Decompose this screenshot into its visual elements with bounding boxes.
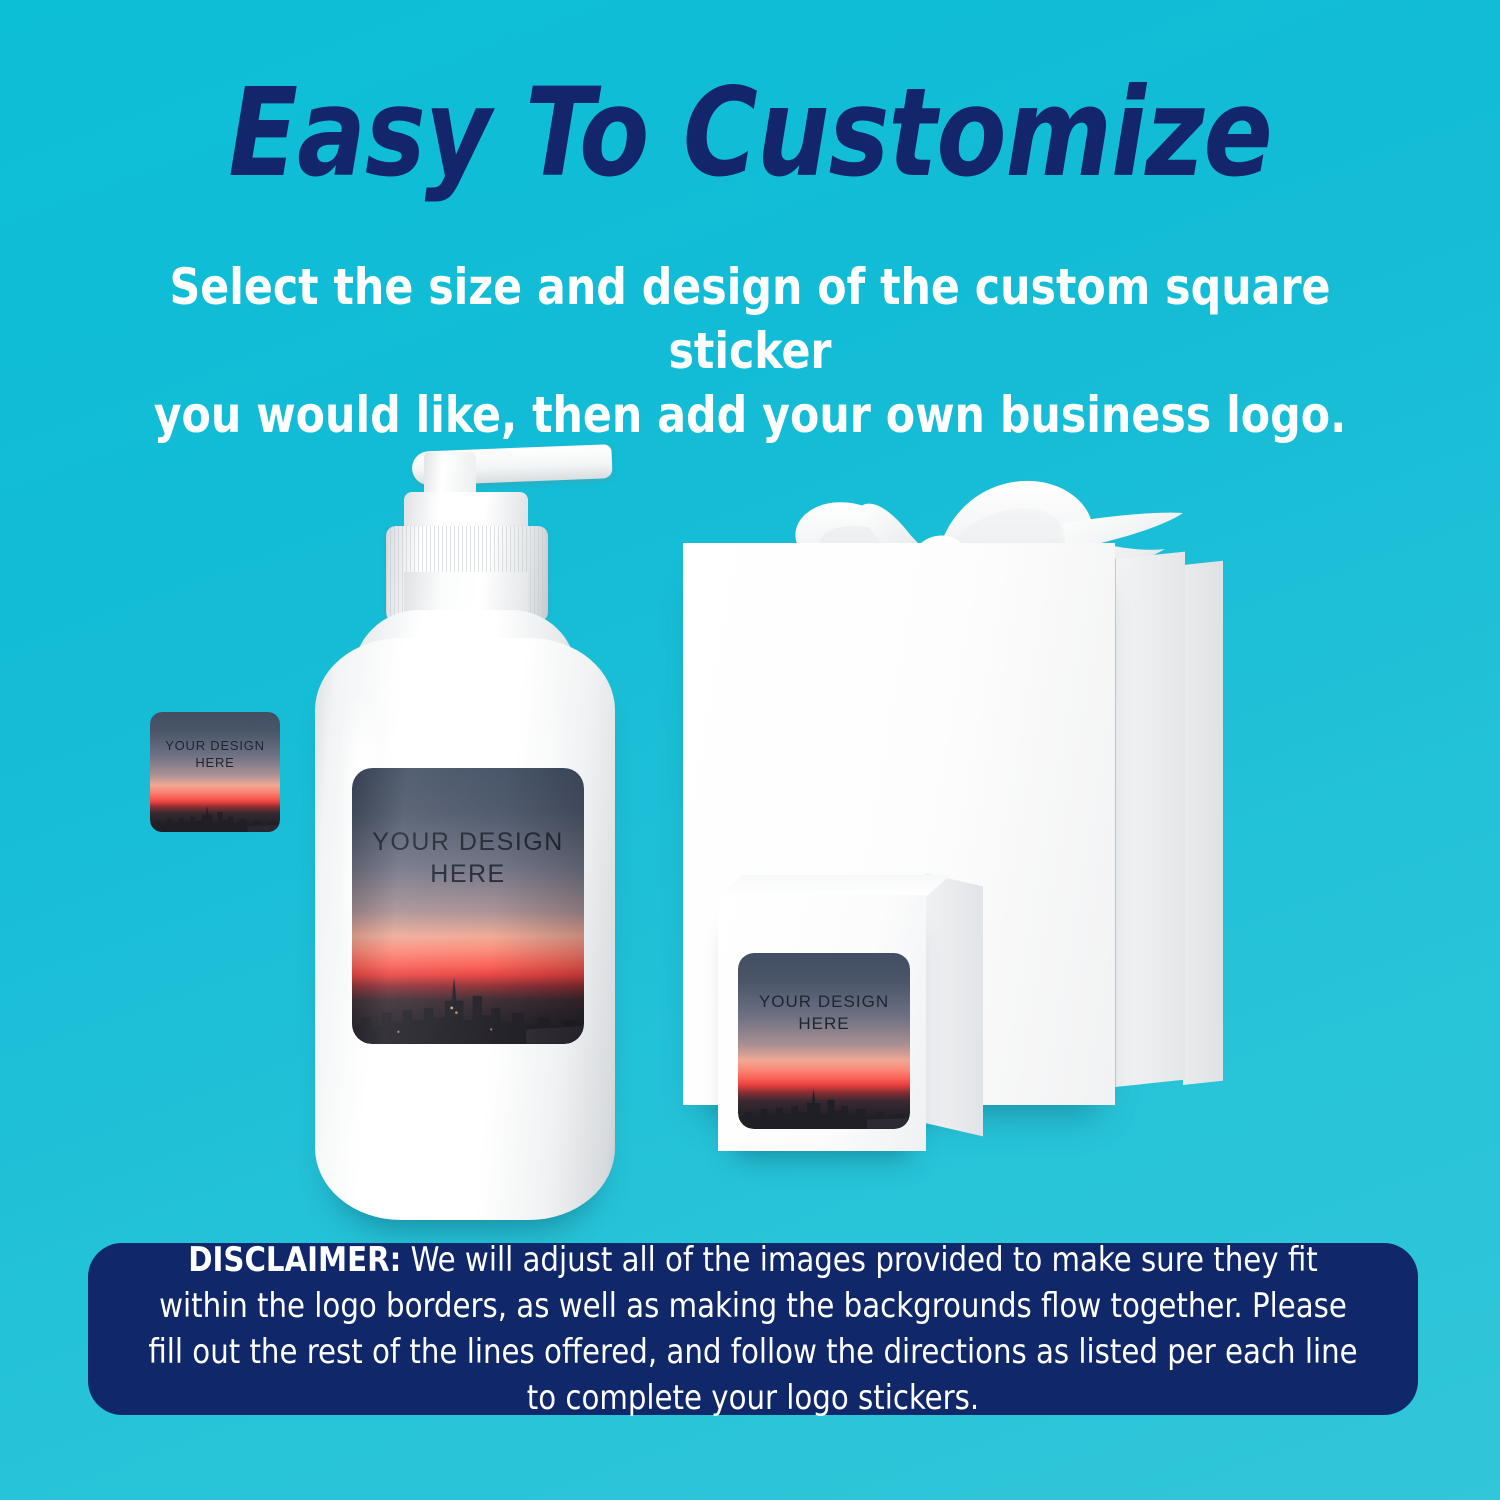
- pump-bottle: YOUR DESIGN HERE: [300, 430, 640, 1220]
- page-title: Easy To Customize: [53, 72, 1448, 194]
- small-box-top-panel: [718, 875, 950, 897]
- small-box: YOUR DESIGN HERE: [718, 895, 1008, 1165]
- small-box-front-panel: YOUR DESIGN HERE: [718, 895, 926, 1151]
- disclaimer-box: DISCLAIMER: We will adjust all of the im…: [88, 1243, 1418, 1415]
- sticker-on-gift-box: YOUR DESIGN HERE: [150, 712, 280, 832]
- sticker-on-bottle: YOUR DESIGN HERE: [352, 768, 584, 1044]
- sticker-text-gift: YOUR DESIGN HERE: [150, 738, 280, 771]
- city-skyline-icon: [738, 1083, 910, 1129]
- sticker-on-small-box: YOUR DESIGN HERE: [738, 953, 910, 1129]
- sticker-text-small-box: YOUR DESIGN HERE: [738, 991, 910, 1035]
- disclaimer-text: DISCLAIMER: We will adjust all of the im…: [141, 1237, 1365, 1422]
- city-skyline-icon: [352, 972, 584, 1044]
- disclaimer-label: DISCLAIMER:: [188, 1240, 401, 1279]
- page-subtitle-line-1: Select the size and design of the custom…: [142, 255, 1358, 383]
- gift-box-back-panel: [1183, 561, 1223, 1085]
- small-box-side-panel: [925, 873, 983, 1136]
- product-scene: YOUR DESIGN HERE YOUR DESIGN HERE: [0, 400, 1500, 1230]
- sticker-text-bottle: YOUR DESIGN HERE: [352, 826, 584, 890]
- promo-graphic: Easy To Customize Select the size and de…: [0, 0, 1500, 1500]
- city-skyline-icon: [150, 801, 280, 832]
- gift-box-side-panel: [1115, 552, 1185, 1087]
